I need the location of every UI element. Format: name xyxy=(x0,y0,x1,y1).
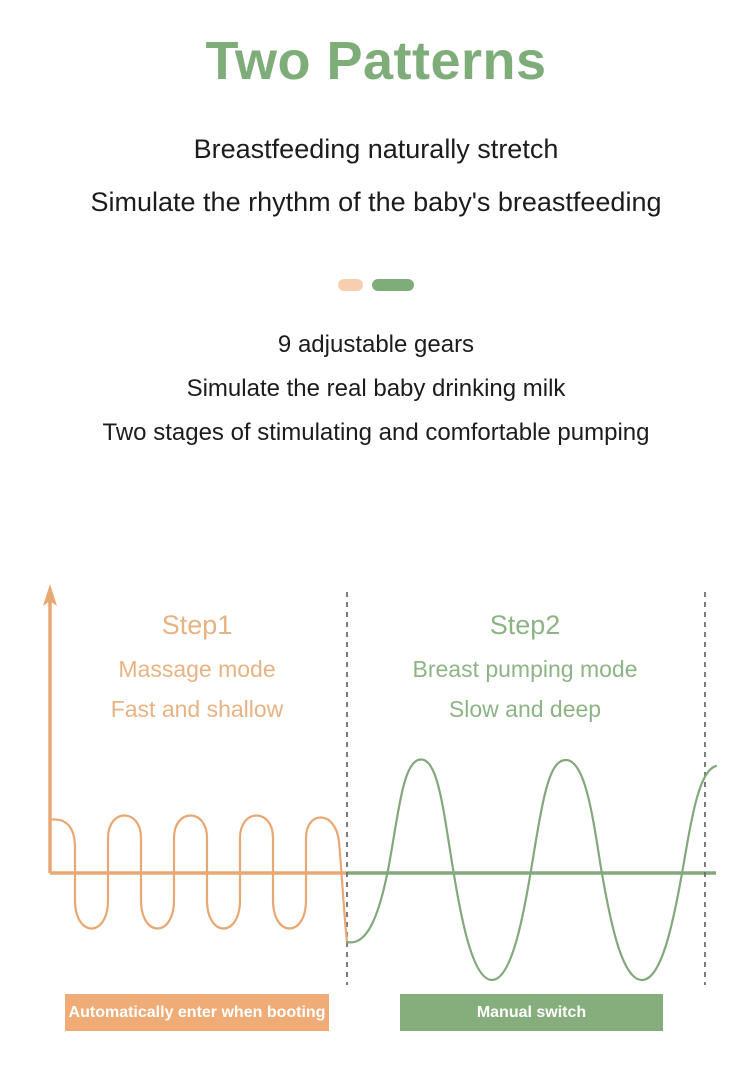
step2-title: Step2 xyxy=(370,612,680,639)
divider xyxy=(0,278,752,292)
wave-pumping-mode xyxy=(347,759,716,980)
page-title: Two Patterns xyxy=(0,34,752,88)
tag-auto-enter-when-booting: Automatically enter when booting xyxy=(65,994,329,1031)
divider-pill-large-icon xyxy=(372,279,414,291)
features-block: 9 adjustable gears Simulate the real bab… xyxy=(0,333,752,465)
feature-line-1: 9 adjustable gears xyxy=(0,333,752,357)
step1-mode: Massage mode xyxy=(62,658,332,681)
step1-label-group: Step1 Massage mode Fast and shallow xyxy=(62,612,332,738)
step2-detail: Slow and deep xyxy=(370,698,680,721)
step1-title: Step1 xyxy=(62,612,332,639)
feature-line-2: Simulate the real baby drinking milk xyxy=(0,377,752,401)
divider-pill-small-icon xyxy=(338,279,363,291)
subtitle-line-2: Simulate the rhythm of the baby's breast… xyxy=(0,189,752,216)
step1-detail: Fast and shallow xyxy=(62,698,332,721)
subtitle-block: Breastfeeding naturally stretch Simulate… xyxy=(0,136,752,242)
tag-manual-switch: Manual switch xyxy=(400,994,663,1031)
subtitle-line-1: Breastfeeding naturally stretch xyxy=(0,136,752,163)
step2-mode: Breast pumping mode xyxy=(370,658,680,681)
step2-label-group: Step2 Breast pumping mode Slow and deep xyxy=(370,612,680,738)
y-axis xyxy=(43,584,57,873)
wave-massage-mode xyxy=(50,816,347,943)
feature-line-3: Two stages of stimulating and comfortabl… xyxy=(0,421,752,445)
